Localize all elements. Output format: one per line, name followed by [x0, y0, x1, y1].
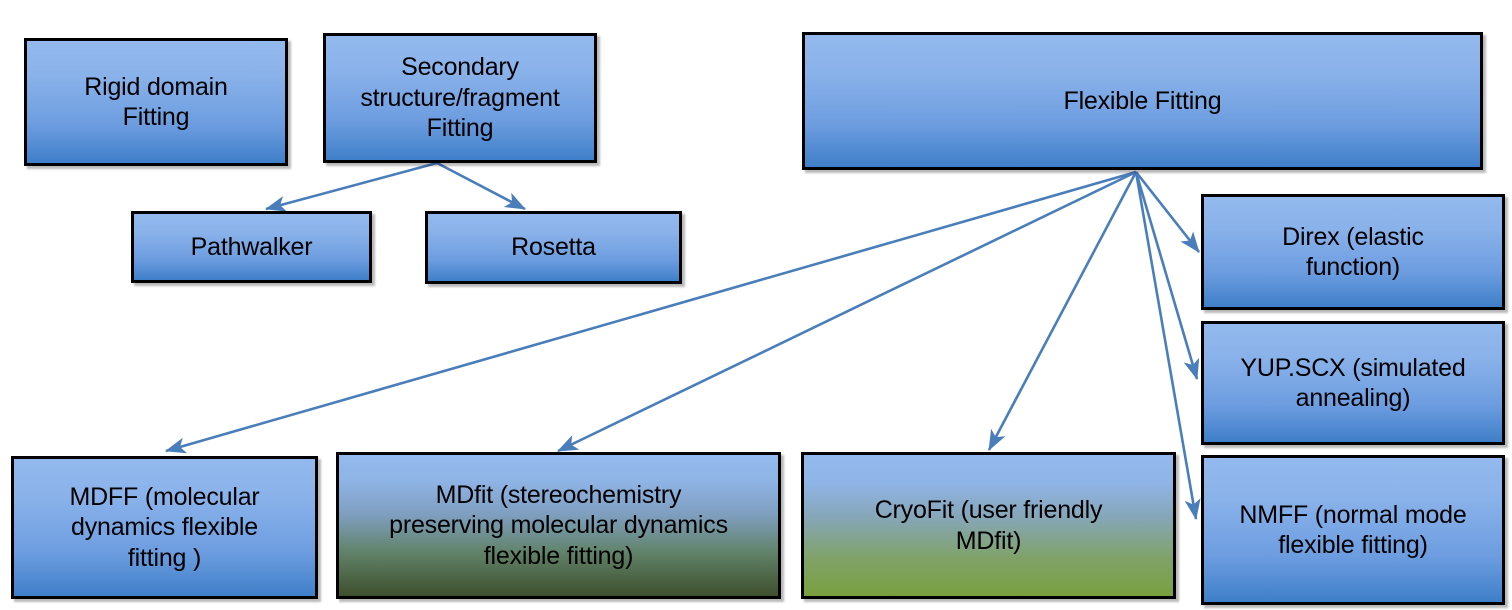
edge-secondary-to-pathwalker: [266, 163, 437, 209]
edge-secondary-to-rosetta: [437, 163, 525, 209]
node-secondary-structure-fragment-fitting[interactable]: Secondary structure/fragment Fitting: [323, 33, 597, 163]
node-label: Flexible Fitting: [813, 86, 1472, 117]
node-direx[interactable]: Direx (elastic function): [1201, 194, 1505, 310]
edge-flexible-to-yupscx: [1136, 172, 1197, 379]
node-label: Secondary structure/fragment Fitting: [334, 52, 586, 144]
edge-flexible-to-cryofit: [989, 172, 1136, 450]
node-mdfit[interactable]: MDfit (stereochemistry preserving molecu…: [336, 452, 781, 599]
node-label: Rosetta: [436, 232, 671, 263]
node-label: YUP.SCX (simulated annealing): [1212, 353, 1494, 414]
diagram-canvas: Rigid domain Fitting Secondary structure…: [0, 0, 1512, 610]
node-label: CryoFit (user friendly MDfit): [812, 495, 1165, 556]
edge-flexible-to-direx: [1136, 172, 1199, 252]
node-yup-scx[interactable]: YUP.SCX (simulated annealing): [1201, 321, 1505, 445]
node-flexible-fitting[interactable]: Flexible Fitting: [802, 32, 1483, 170]
node-label: Pathwalker: [142, 232, 361, 263]
node-rigid-domain-fitting[interactable]: Rigid domain Fitting: [24, 38, 288, 166]
node-mdff[interactable]: MDFF (molecular dynamics flexible fittin…: [11, 456, 318, 599]
node-label: Rigid domain Fitting: [35, 72, 277, 133]
node-label: NMFF (normal mode flexible fitting): [1212, 500, 1494, 561]
node-label: Direx (elastic function): [1212, 222, 1494, 283]
node-rosetta[interactable]: Rosetta: [425, 211, 682, 284]
node-label: MDfit (stereochemistry preserving molecu…: [347, 480, 770, 572]
node-label: MDFF (molecular dynamics flexible fittin…: [22, 482, 307, 574]
node-cryofit[interactable]: CryoFit (user friendly MDfit): [801, 452, 1176, 599]
node-pathwalker[interactable]: Pathwalker: [131, 211, 372, 283]
node-nmff[interactable]: NMFF (normal mode flexible fitting): [1201, 455, 1505, 605]
